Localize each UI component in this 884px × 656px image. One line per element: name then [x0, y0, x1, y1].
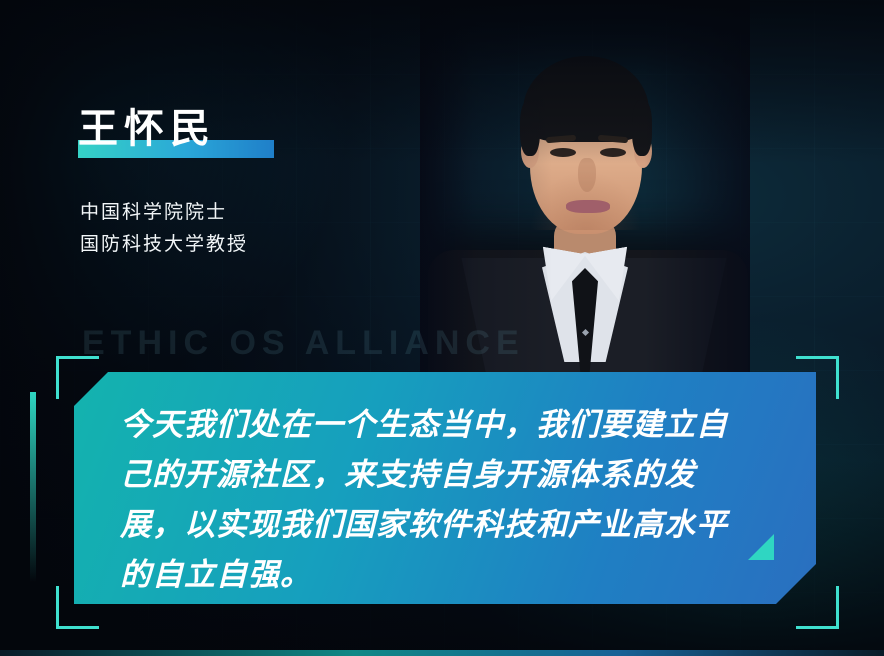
- promo-card: ETHIC OS ALLIANCE 王怀民 中国科学院院士 国防科技大学教授 今…: [0, 0, 884, 656]
- bracket-top-left: [56, 356, 99, 399]
- quote-line: 己的开源社区，来支持自身开源体系的发: [120, 450, 780, 500]
- bracket-bottom-left: [56, 586, 99, 629]
- quote-line: 展，以实现我们国家软件科技和产业高水平: [120, 500, 780, 550]
- bottom-accent-line: [0, 650, 884, 656]
- side-accent-strip: [30, 392, 36, 582]
- speaker-name: 王怀民: [78, 96, 408, 154]
- quote-card: 今天我们处在一个生态当中，我们要建立自 己的开源社区，来支持自身开源体系的发 展…: [74, 372, 816, 604]
- bracket-top-right: [796, 356, 839, 399]
- quote-line: 的自立自强。: [120, 550, 780, 600]
- bracket-bottom-right: [796, 586, 839, 629]
- quote-line: 今天我们处在一个生态当中，我们要建立自: [120, 400, 780, 450]
- speaker-title-line: 国防科技大学教授: [80, 228, 248, 260]
- corner-triangle-accent: [748, 534, 774, 560]
- speaker-titles: 中国科学院院士 国防科技大学教授: [80, 196, 248, 260]
- speaker-name-block: 王怀民: [78, 96, 408, 154]
- speaker-title-line: 中国科学院院士: [80, 196, 248, 228]
- watermark-text: ETHIC OS ALLIANCE: [82, 324, 525, 363]
- quote-text: 今天我们处在一个生态当中，我们要建立自 己的开源社区，来支持自身开源体系的发 展…: [120, 400, 780, 600]
